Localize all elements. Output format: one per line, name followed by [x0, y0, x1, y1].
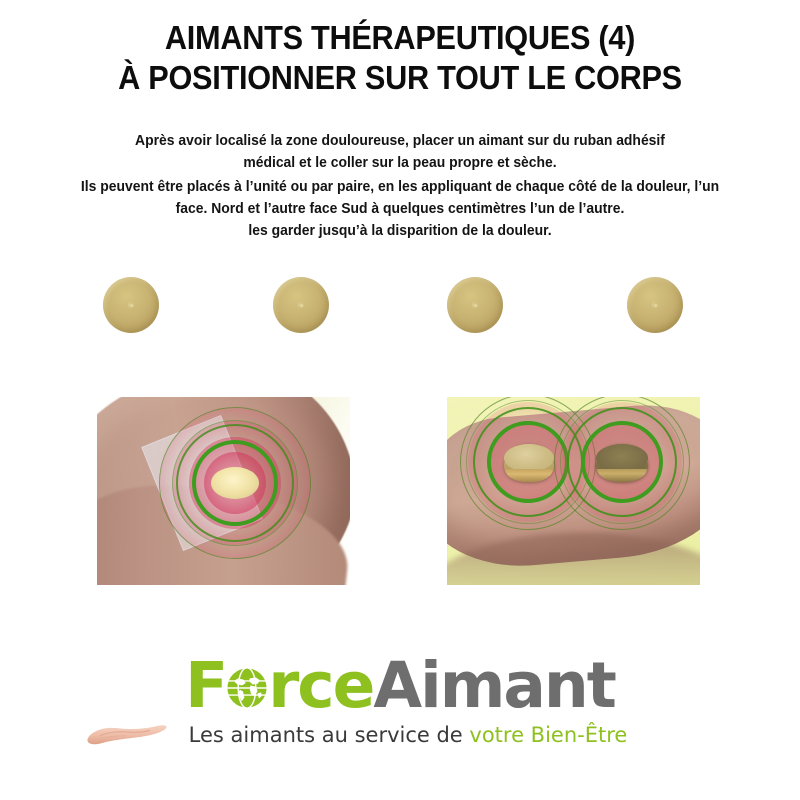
magnet-disc-2: [273, 277, 329, 333]
instruction-line-5: les garder jusqu’à la disparition de la …: [16, 220, 784, 242]
instruction-line-4: face. Nord et l’autre face Sud à quelque…: [16, 198, 784, 220]
logo-tagline: Les aimants au service de votre Bien-Êtr…: [173, 722, 628, 748]
instruction-line-3: Ils peuvent être placés à l’unité ou par…: [16, 176, 784, 198]
magnet-forearm-right: [596, 444, 648, 482]
magnet-forearm-left: [504, 444, 554, 482]
magnet-row: [0, 277, 800, 337]
photo-forearm: [447, 397, 700, 585]
instruction-line-1: Après avoir localisé la zone douloureuse…: [16, 130, 784, 152]
magnet-disc-3: [447, 277, 503, 333]
logo-wordmark: F rceAimant: [185, 652, 615, 720]
hand-icon: [81, 720, 173, 750]
globe-icon: [225, 655, 269, 699]
magnet-disc-4: [627, 277, 683, 333]
tagline-dark-part: Les aimants au service de: [189, 723, 470, 747]
page-title-line-2: À POSITIONNER SUR TOUT LE CORPS: [28, 58, 772, 98]
magnet-right-face: [596, 444, 648, 472]
page-title: AIMANTS THÉRAPEUTIQUES (4) À POSITIONNER…: [0, 18, 800, 98]
magnet-disc-1: [103, 277, 159, 333]
brand-logo: F rceAimant: [0, 652, 800, 748]
page-title-line-1: AIMANTS THÉRAPEUTIQUES (4): [28, 18, 772, 58]
magnet-on-elbow: [211, 467, 259, 499]
instructions-block: Après avoir localisé la zone douloureuse…: [0, 130, 800, 242]
magnet-left-face: [504, 444, 554, 472]
logo-word-rce: rce: [268, 649, 373, 722]
photo-elbow: [97, 397, 350, 585]
tagline-green-part: votre Bien-Être: [469, 723, 627, 747]
instruction-line-2: médical et le coller sur la peau propre …: [16, 152, 784, 174]
logo-word-f: F: [185, 649, 226, 722]
logo-word-aimant: Aimant: [373, 649, 614, 722]
